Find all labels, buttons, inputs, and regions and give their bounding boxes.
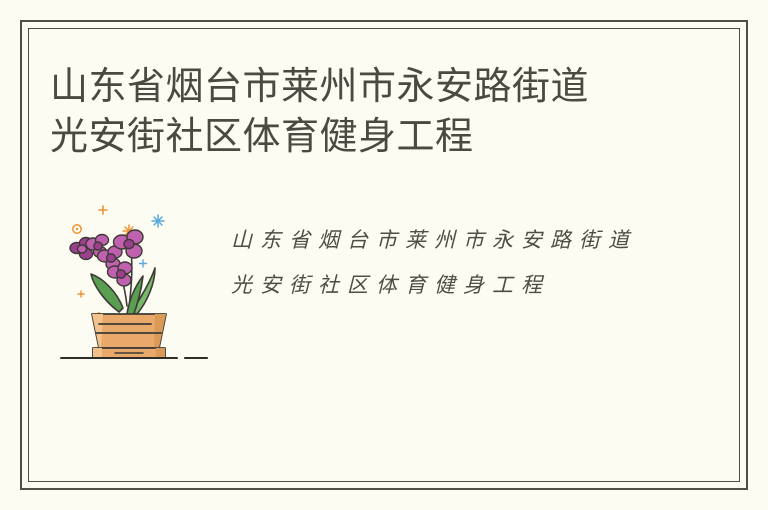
sparkle-orange-dot-icon [78,291,84,297]
sparkle-orange-plus-icon [99,206,107,214]
sparkle-orange-ring-icon [73,225,81,233]
potted-orchid-illustration [55,196,215,368]
sparkle-blue-dot-icon [140,260,147,267]
poster-canvas: 山东省烟台市莱州市永安路街道 光安街社区体育健身工程 [0,0,768,510]
flower-pot [92,314,166,358]
sparkle-blue-burst-icon [152,215,164,227]
page-title: 山东省烟台市莱州市永安路街道 光安街社区体育健身工程 [50,62,650,162]
caption-text: 山东省烟台市莱州市永安路街道 光安街社区体育健身工程 [231,218,651,308]
